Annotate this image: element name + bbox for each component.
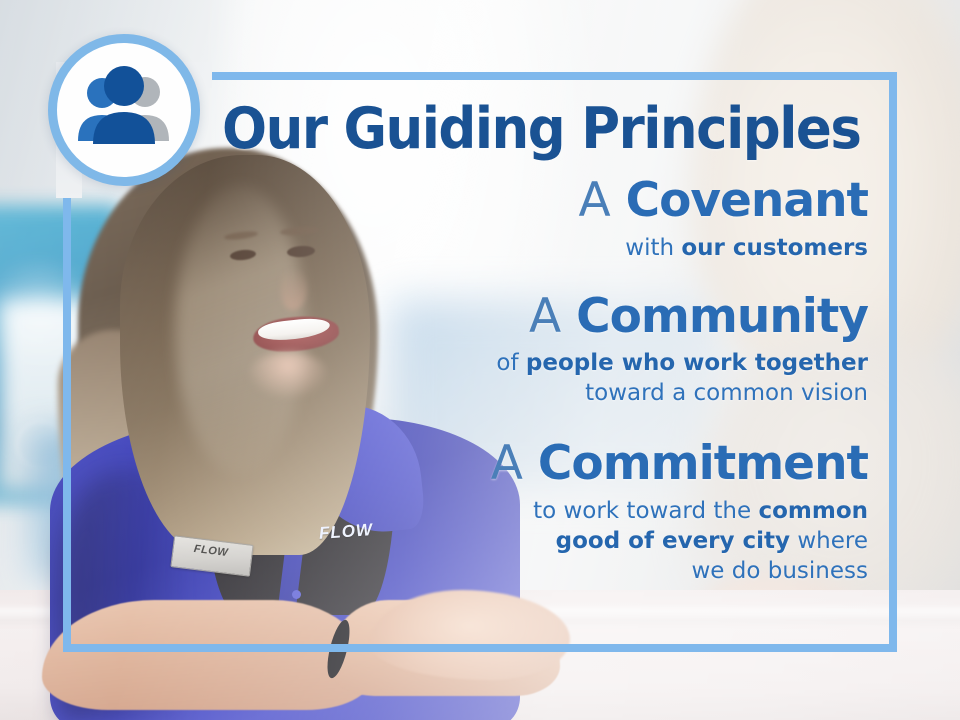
plain-text: with: [625, 235, 681, 261]
covenant-article: A: [578, 173, 610, 228]
emphasis-text: our customers: [681, 235, 868, 261]
plain-text: toward a common vision: [585, 380, 868, 406]
principle-commitment-subtext: to work toward the commongood of every c…: [200, 497, 868, 587]
community-article: A: [529, 289, 561, 344]
commitment-keyword: Commitment: [538, 436, 868, 491]
emphasis-text: good of every city: [556, 528, 790, 554]
principle-covenant: A Covenant with our customers: [200, 176, 868, 264]
principle-community: A Community of people who work togethert…: [200, 292, 868, 410]
principles-list: A Covenant with our customers A Communit…: [200, 176, 882, 587]
plain-text: to work toward the: [533, 498, 758, 524]
plain-text: where: [790, 528, 868, 554]
plain-text: of: [496, 350, 525, 376]
principle-community-subtext: of people who work togethertoward a comm…: [200, 349, 868, 409]
principle-commitment-heading: A Commitment: [200, 439, 868, 490]
emphasis-text: common: [758, 498, 868, 524]
plain-text: we do business: [692, 558, 869, 584]
principle-commitment: A Commitment to work toward the commongo…: [200, 439, 868, 586]
principle-covenant-subtext: with our customers: [200, 234, 868, 264]
covenant-keyword: Covenant: [626, 173, 868, 228]
principle-covenant-heading: A Covenant: [200, 176, 868, 227]
principle-community-heading: A Community: [200, 292, 868, 343]
community-keyword: Community: [576, 289, 868, 344]
page-title: Our Guiding Principles: [222, 96, 860, 162]
emphasis-text: people who work together: [526, 350, 868, 376]
guiding-principles-banner: FLOW FLOW Our Guiding Principles A Coven…: [0, 0, 960, 720]
group-of-people-icon: [48, 34, 200, 186]
commitment-article: A: [491, 436, 523, 491]
